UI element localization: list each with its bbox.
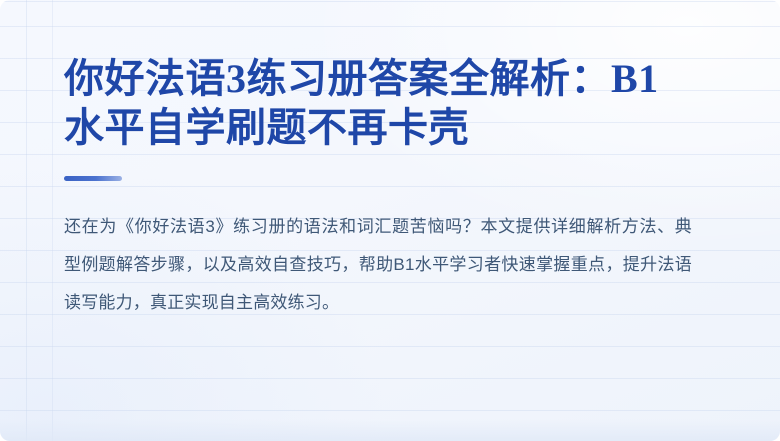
article-summary: 还在为《你好法语3》练习册的语法和词汇题苦恼吗？本文提供详细解析方法、典型例题解… xyxy=(64,208,692,322)
cover-content: 你好法语3练习册答案全解析：B1 水平自学刷题不再卡壳 还在为《你好法语3》练习… xyxy=(64,54,724,322)
title-accent-divider xyxy=(64,176,122,181)
background-bottom-band xyxy=(0,419,780,441)
article-cover-card: 你好法语3练习册答案全解析：B1 水平自学刷题不再卡壳 还在为《你好法语3》练习… xyxy=(0,0,780,441)
background-vertical-rule xyxy=(52,0,53,441)
screenshot-canvas: 你好法语3练习册答案全解析：B1 水平自学刷题不再卡壳 还在为《你好法语3》练习… xyxy=(0,0,780,441)
page-title: 你好法语3练习册答案全解析：B1 水平自学刷题不再卡壳 xyxy=(64,54,724,152)
